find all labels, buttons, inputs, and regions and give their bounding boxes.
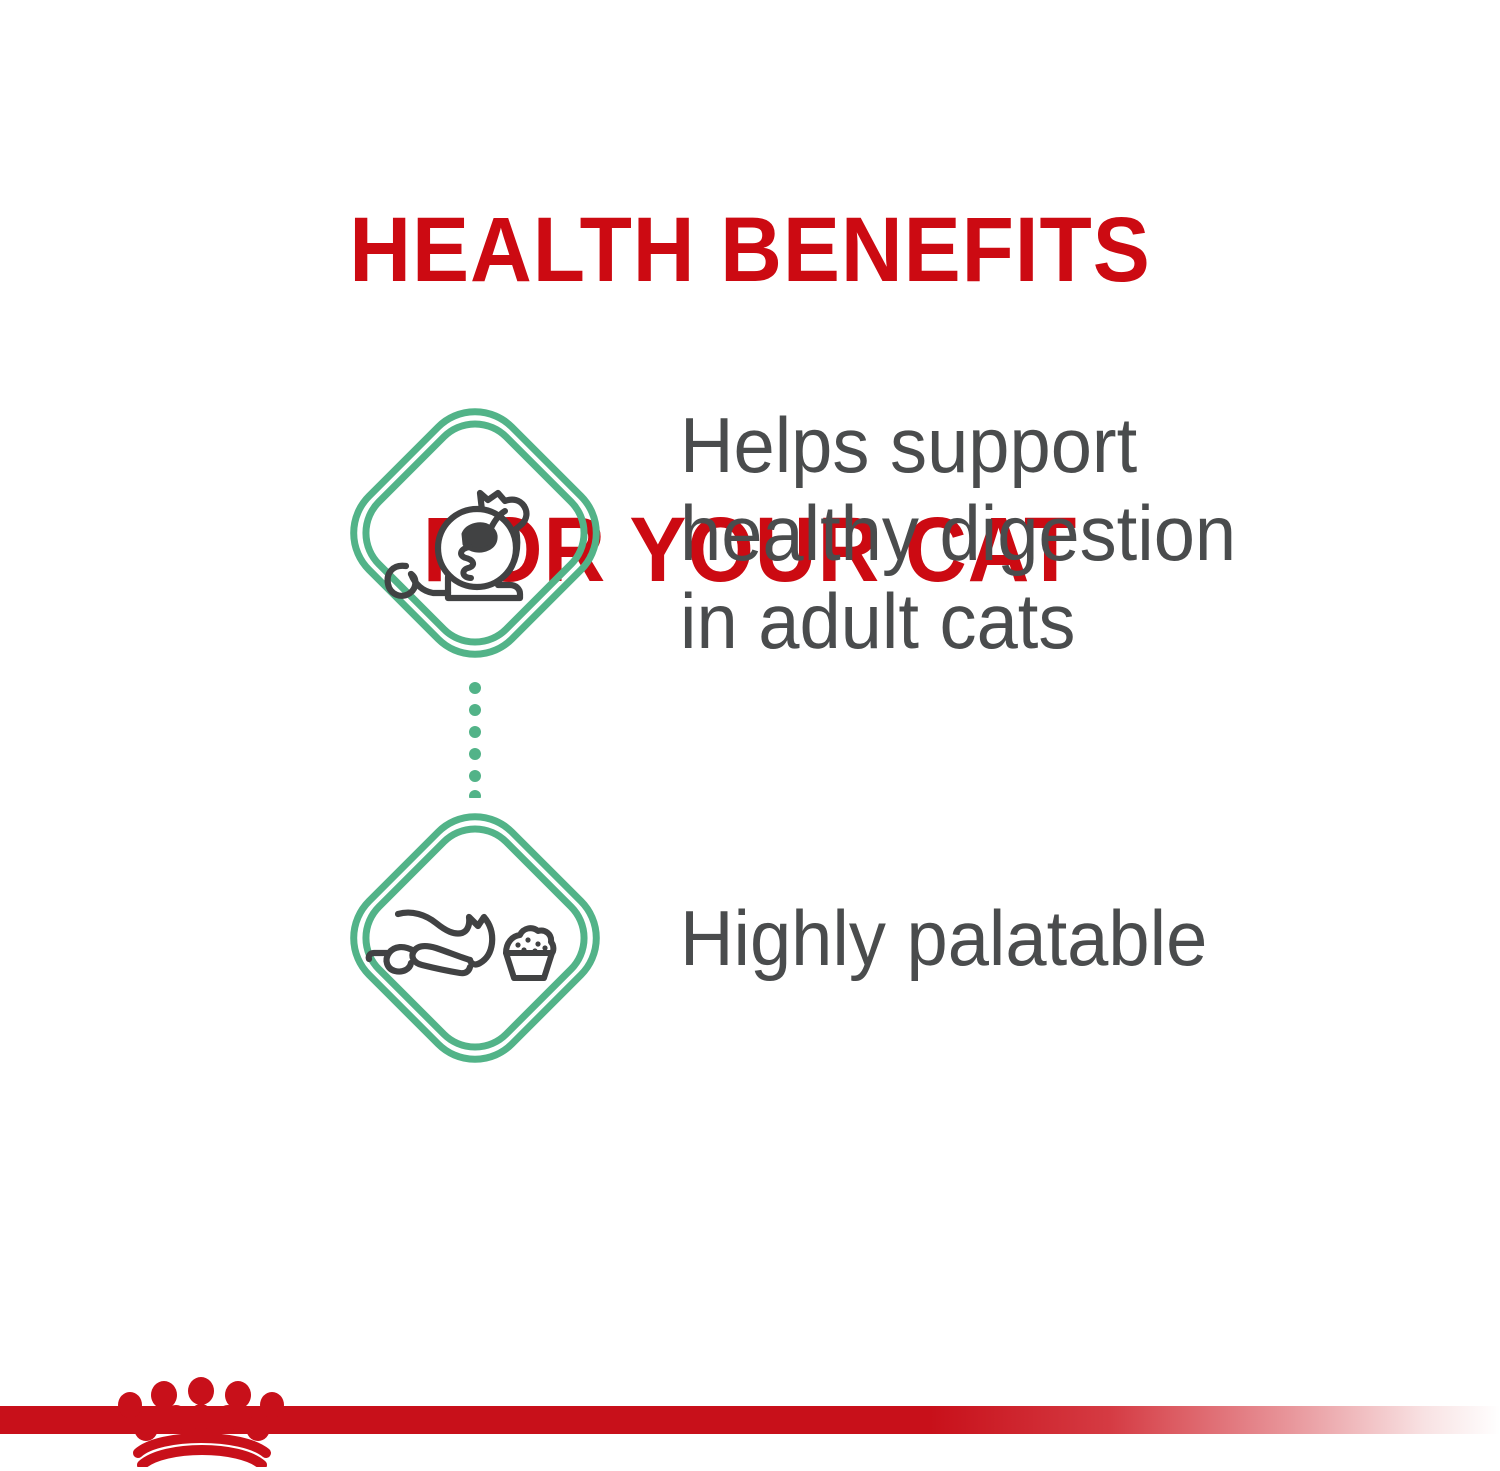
benefit-item: Highly palatable <box>0 793 1500 1083</box>
benefit-label: Helps support healthy digestion in adult… <box>680 401 1459 665</box>
benefit-text-container: Helps support healthy digestion in adult… <box>640 401 1500 665</box>
royal-canin-crown-logo <box>108 1371 298 1467</box>
benefit-item: Helps support healthy digestion in adult… <box>0 378 1500 688</box>
cat-eating-bowl-icon <box>330 793 620 1083</box>
benefit-icon-container <box>0 793 640 1083</box>
page-title-line-1: HEALTH BENEFITS <box>53 200 1448 300</box>
benefit-label: Highly palatable <box>680 894 1459 982</box>
cat-digestion-icon <box>330 388 620 678</box>
benefits-list: Helps support healthy digestion in adult… <box>0 378 1500 1078</box>
dotted-connector <box>0 678 1500 798</box>
benefit-icon-container <box>0 388 640 678</box>
footer <box>0 1371 1500 1471</box>
benefit-text-container: Highly palatable <box>640 894 1500 982</box>
